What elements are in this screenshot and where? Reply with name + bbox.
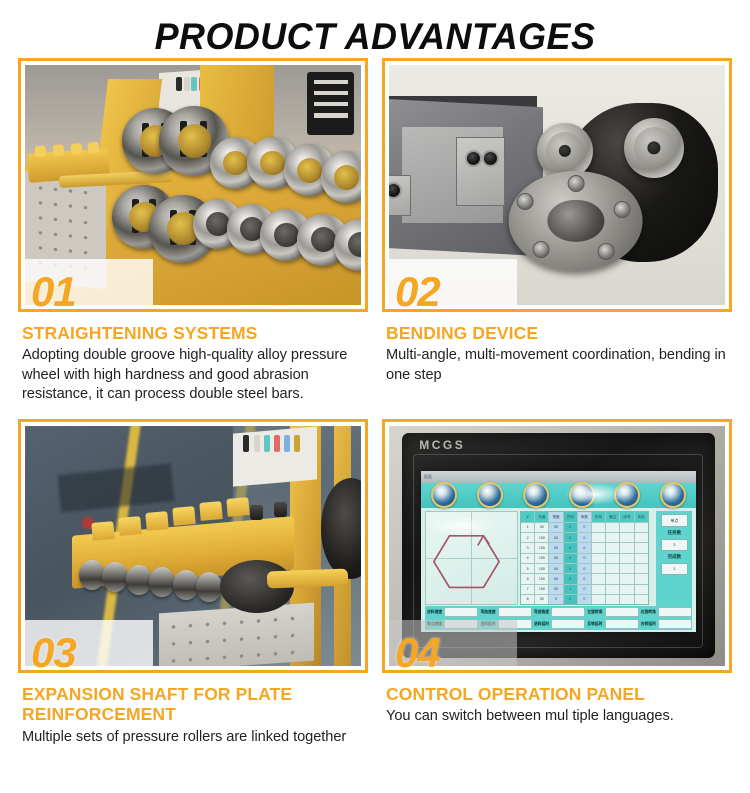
table-cell: 0 [564,543,578,552]
table-header-cell: 序号 [620,512,634,521]
table-cell [635,585,648,594]
param-value[interactable] [444,607,478,617]
table-cell: 150 [535,564,549,573]
table-cell: 0 [564,595,578,604]
param-label: 右旋转角 [641,610,656,614]
table-cell [620,523,634,532]
param-value[interactable] [605,619,639,629]
photo-frame-02: 02 [382,58,732,312]
text-block-02: BENDING DEVICE Multi-angle, multi-moveme… [382,312,732,385]
table-cell [635,574,648,583]
table-cell: 8 [521,595,535,604]
table-cell: 7 [521,585,535,594]
card-number-04: 04 [395,632,440,674]
hmi-titlebar: 画面 [421,471,697,482]
table-row[interactable]: 5 150 60 0 0 [521,564,648,574]
table-cell: 0 [578,564,592,573]
table-cell: 4 [521,554,535,563]
card-number-02: 02 [395,271,440,313]
table-row[interactable]: 6 150 60 0 0 [521,574,648,584]
table-cell [592,564,606,573]
table-cell: 6 [521,574,535,583]
table-cell: 0 [564,564,578,573]
table-header-cell: 长度 [535,512,549,521]
param-label: 右转延时 [641,622,656,626]
param-cell[interactable]: 右转延时 [639,619,692,630]
card-heading-01: STRAIGHTENING SYSTEMS [22,323,366,343]
text-block-01: STRAIGHTENING SYSTEMS Adopting double gr… [18,312,368,405]
table-cell: 0 [578,585,592,594]
program-table[interactable]: # 长度 角度 方向 条数 形状 备注 序号 状态 1 50 [520,511,649,605]
table-cell: 0 [578,574,592,583]
param-cell[interactable]: 退料延时 [532,619,585,630]
toolbar-icon-5[interactable] [614,482,640,508]
table-cell [592,585,606,594]
card-body-02: Multi-angle, multi-movement coordination… [386,346,730,385]
table-cell: 0 [564,574,578,583]
param-value[interactable] [658,607,692,617]
hmi-titlebar-left: 画面 [421,474,432,480]
table-cell [620,554,634,563]
card-body-01: Adopting double groove high-quality allo… [22,346,366,404]
table-cell [592,523,606,532]
table-cell [606,523,620,532]
toolbar-icon-2[interactable] [477,482,503,508]
table-row[interactable]: 1 50 90 0 0 [521,523,648,533]
done-count-value[interactable]: 1 [661,563,689,575]
param-cell[interactable]: 进料速度 [425,607,478,618]
table-header-cell: 形状 [592,512,606,521]
shape-preview-area[interactable] [425,511,518,605]
table-cell [620,564,634,573]
table-header-cell: 方向 [564,512,578,521]
table-header-cell: 角度 [549,512,563,521]
advantage-card-01: 01 STRAIGHTENING SYSTEMS Adopting double… [18,58,368,405]
table-cell [592,554,606,563]
table-header-cell: 条数 [578,512,592,521]
table-cell: 0 [578,554,592,563]
table-cell: 60 [549,533,563,542]
table-cell: 90 [549,585,563,594]
advantage-card-03: 03 EXPANSION SHAFT FOR PLATE REINFORCEME… [18,419,368,747]
table-cell [620,543,634,552]
table-header-row: # 长度 角度 方向 条数 形状 备注 序号 状态 [521,512,648,522]
param-cell[interactable]: 弯曲角度 [532,607,585,618]
table-cell: 0 [578,543,592,552]
table-cell [592,574,606,583]
param-label: 反转延时 [587,622,602,626]
hexagon-shape-icon [431,525,502,593]
advantage-card-04: MCGS 画面 [382,419,732,747]
advantage-card-02: 02 BENDING DEVICE Multi-angle, multi-mov… [382,58,732,405]
table-cell [606,554,620,563]
table-cell [592,533,606,542]
advantages-grid: 01 STRAIGHTENING SYSTEMS Adopting double… [18,58,732,747]
table-cell [606,543,620,552]
table-cell: 150 [535,533,549,542]
card-body-04: You can switch between mul tiple languag… [386,707,730,726]
table-row[interactable]: 4 150 60 0 0 [521,554,648,564]
photo-frame-03: 03 [18,419,368,673]
keys-detail-3 [243,435,307,452]
table-cell [606,564,620,573]
bending-hub [509,171,643,272]
table-cell [635,523,648,532]
table-cell [620,595,634,604]
param-value[interactable] [605,607,639,617]
table-cell [635,564,648,573]
single-point-button[interactable]: 单点 [661,514,689,526]
task-count-label: 任务数 [668,530,682,536]
table-cell: 60 [549,543,563,552]
param-cell[interactable]: 右旋转角 [639,607,692,618]
table-cell [635,533,648,542]
card-heading-02: BENDING DEVICE [386,323,730,343]
table-row[interactable]: 8 50 0 0 0 [521,595,648,604]
table-cell [606,533,620,542]
table-cell [635,543,648,552]
task-count-value[interactable]: 3 [661,539,689,551]
table-row[interactable]: 3 150 60 0 0 [521,543,648,553]
table-row[interactable]: 2 150 60 0 0 [521,533,648,543]
table-cell: 50 [535,595,549,604]
param-value[interactable] [551,619,585,629]
table-cell: 150 [535,585,549,594]
param-value[interactable] [498,607,532,617]
card-body-03: Multiple sets of pressure rollers are li… [22,728,366,747]
param-value[interactable] [658,619,692,629]
hmi-toolbar[interactable] [421,483,697,509]
table-cell: 90 [549,523,563,532]
photo-frame-04: MCGS 画面 [382,419,732,673]
table-header-cell: # [521,512,535,521]
param-label: 弯曲角度 [534,610,549,614]
param-cell[interactable]: 反转延时 [585,619,638,630]
table-cell [620,585,634,594]
param-label: 进料速度 [427,610,442,614]
param-cell[interactable]: 弯曲速度 [478,607,531,618]
table-cell: 0 [564,554,578,563]
text-block-03: EXPANSION SHAFT FOR PLATE REINFORCEMENT … [18,673,368,747]
table-cell: 60 [549,554,563,563]
table-cell: 50 [535,523,549,532]
table-cell [592,543,606,552]
photo-frame-01: 01 [18,58,368,312]
table-cell [606,574,620,583]
table-cell [620,533,634,542]
table-cell: 60 [549,564,563,573]
card-heading-03: EXPANSION SHAFT FOR PLATE REINFORCEMENT [22,684,366,725]
table-cell: 0 [578,595,592,604]
table-cell: 150 [535,574,549,583]
table-cell: 0 [578,533,592,542]
table-cell: 2 [521,533,535,542]
toolbar-icon-1[interactable] [431,482,457,508]
table-cell [606,585,620,594]
table-cell [635,595,648,604]
table-cell: 0 [549,595,563,604]
hmi-screen[interactable]: 画面 [421,471,697,632]
table-cell: 0 [578,523,592,532]
table-cell: 150 [535,554,549,563]
card-number-03: 03 [31,632,76,674]
table-cell: 0 [564,523,578,532]
toolbar-icon-3[interactable] [523,482,549,508]
table-cell: 1 [521,523,535,532]
table-cell: 150 [535,543,549,552]
param-cell[interactable]: 左旋转角 [585,607,638,618]
table-cell [620,574,634,583]
card-number-01: 01 [31,271,76,313]
table-header-cell: 备注 [606,512,620,521]
table-cell: 1 [564,585,578,594]
table-cell: 5 [521,564,535,573]
table-cell: 3 [521,543,535,552]
table-row[interactable]: 7 150 90 1 0 [521,585,648,595]
table-cell [635,554,648,563]
table-cell: 60 [549,574,563,583]
done-count-label: 完成数 [668,554,682,560]
table-cell [606,595,620,604]
param-label: 弯曲速度 [480,610,495,614]
bending-plate [456,137,505,206]
hmi-right-controls[interactable]: 单点 任务数 3 完成数 1 [656,511,692,606]
param-label: 左旋转角 [587,610,602,614]
param-label: 退料延时 [534,622,549,626]
card-heading-04: CONTROL OPERATION PANEL [386,684,730,704]
bending-roller-right [624,118,684,178]
table-cell: 0 [564,533,578,542]
param-value[interactable] [551,607,585,617]
text-block-04: CONTROL OPERATION PANEL You can switch b… [382,673,732,727]
toolbar-icon-4[interactable] [569,482,595,508]
page-title: PRODUCT ADVANTAGES [11,0,739,55]
mcgs-brand-label: MCGS [419,438,465,452]
table-header-cell: 状态 [635,512,648,521]
table-cell [592,595,606,604]
toolbar-icon-6[interactable] [660,482,686,508]
